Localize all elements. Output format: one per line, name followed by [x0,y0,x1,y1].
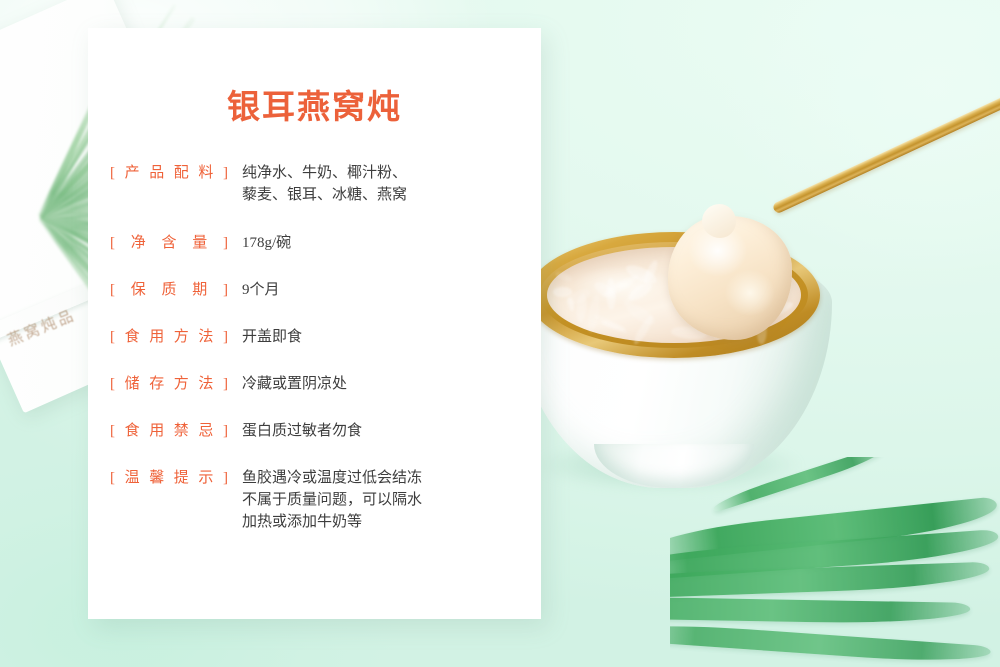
spec-value: 纯净水、牛奶、椰汁粉、 藜麦、银耳、冰糖、燕窝 [242,162,407,206]
dessert-strand [606,277,616,309]
spec-list: [产品配料]纯净水、牛奶、椰汁粉、 藜麦、银耳、冰糖、燕窝[净含量]178g/碗… [88,162,541,533]
spec-value: 蛋白质过敏者勿食 [242,420,362,442]
spec-label: [产品配料] [110,162,228,184]
product-info-card: 银耳燕窝炖 [产品配料]纯净水、牛奶、椰汁粉、 藜麦、银耳、冰糖、燕窝[净含量]… [88,28,541,619]
spec-value: 鱼胶遇冷或温度过低会结冻 不属于质量问题，可以隔水 加热或添加牛奶等 [242,467,422,533]
leaf-blade [711,457,886,513]
spec-row: [食用方法]开盖即食 [110,326,529,348]
spec-value: 178g/碗 [242,232,291,254]
spec-label: [净含量] [110,232,228,254]
spec-label: [储存方法] [110,373,228,395]
spec-row: [保质期]9个月 [110,279,529,301]
spec-row: [净含量]178g/碗 [110,232,529,254]
spec-label: [温馨提示] [110,467,228,489]
spec-value: 开盖即食 [242,326,302,348]
scooped-dessert-tip [702,204,736,238]
ceramic-bowl [516,232,832,488]
dessert-strand [593,312,628,334]
spec-row: [储存方法]冷藏或置阴凉处 [110,373,529,395]
spec-row: [温馨提示]鱼胶遇冷或温度过低会结冻 不属于质量问题，可以隔水 加热或添加牛奶等 [110,467,529,533]
scooped-dessert [668,216,792,340]
spec-value: 冷藏或置阴凉处 [242,373,347,395]
spec-label: [食用方法] [110,326,228,348]
leaf-blade [670,595,970,625]
page-title: 银耳燕窝炖 [88,80,541,128]
green-leaves-decoration [670,457,1000,667]
spec-row: [食用禁忌]蛋白质过敏者勿食 [110,420,529,442]
dessert-strand [554,270,572,283]
leaf-blade [670,620,991,666]
dessert-strand [585,295,601,334]
spec-value: 9个月 [242,279,280,301]
gold-spoon-handle [772,65,1000,214]
product-detail-image: 燕窝炖品 银耳燕窝炖 [产品配料]纯净水、牛奶、椰汁粉、 藜麦、银耳、冰糖、燕窝… [0,0,1000,667]
spec-label: [保质期] [110,279,228,301]
spec-row: [产品配料]纯净水、牛奶、椰汁粉、 藜麦、银耳、冰糖、燕窝 [110,162,529,206]
spec-label: [食用禁忌] [110,420,228,442]
